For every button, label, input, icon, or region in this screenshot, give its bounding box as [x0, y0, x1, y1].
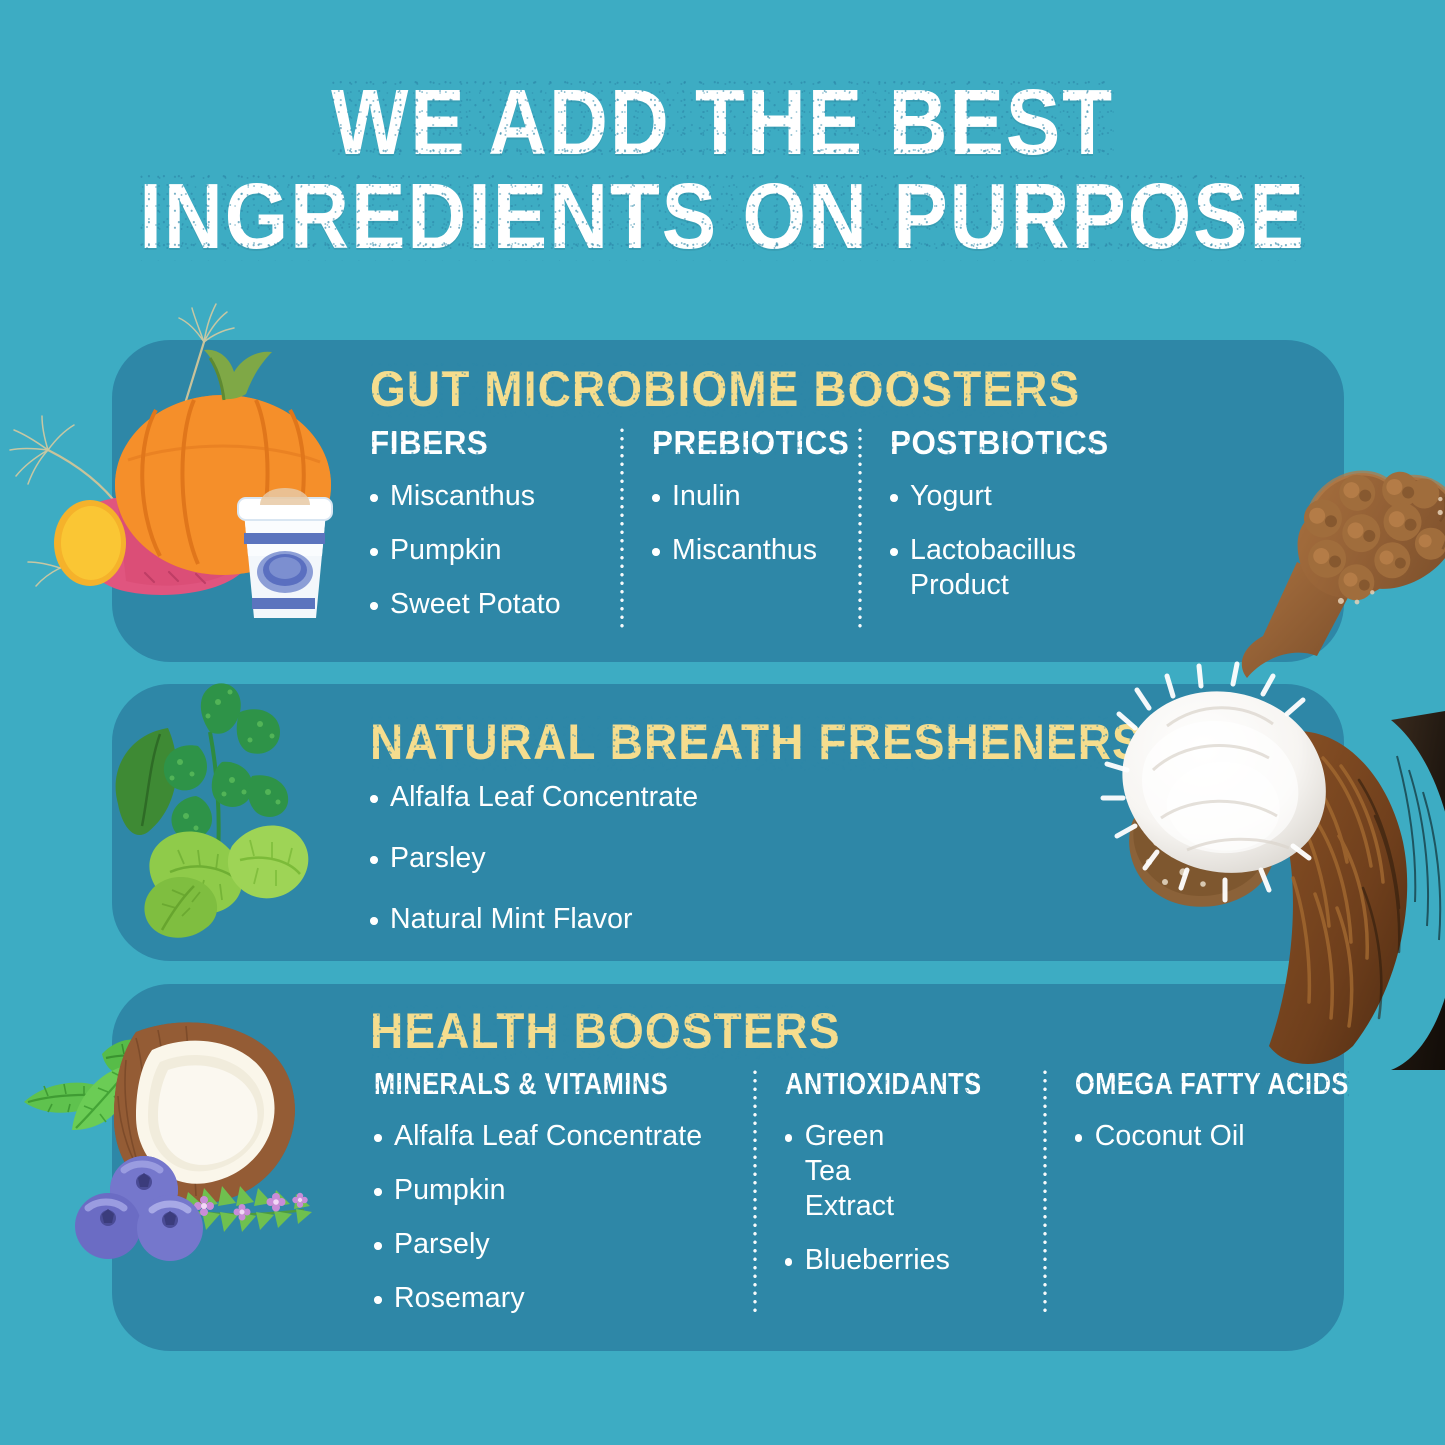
- list-item: Lactobacillus Product: [890, 533, 1105, 603]
- column-minerals-vitamins: MINERALS & VITAMINS Alfalfa Leaf Concent…: [374, 1068, 753, 1335]
- list-minerals-vitamins: Alfalfa Leaf Concentrate Pumpkin Parsely…: [374, 1119, 733, 1316]
- list-item: Alfalfa Leaf Concentrate: [370, 780, 698, 815]
- list-item: Green Tea Extract: [785, 1119, 915, 1224]
- title-line-1: WE ADD THE BEST: [331, 78, 1114, 166]
- list-breath-fresheners: Alfalfa Leaf Concentrate Parsley Natural…: [370, 780, 698, 963]
- ingredients-infographic: WE ADD THE BEST INGREDIENTS ON PURPOSE G…: [0, 0, 1445, 1445]
- column-divider: [620, 426, 624, 632]
- list-item: Blueberries: [785, 1243, 1023, 1278]
- panel-health-boosters: HEALTH BOOSTERS MINERALS & VITAMINS Alfa…: [112, 984, 1344, 1351]
- list-prebiotics: Inulin Miscanthus: [652, 479, 838, 568]
- list-item: Parsely: [374, 1227, 733, 1262]
- column-omega-fatty-acids: OMEGA FATTY ACIDS Coconut Oil: [1043, 1068, 1343, 1173]
- column-fibers: FIBERS Miscanthus Pumpkin Sweet Potato: [370, 426, 620, 641]
- list-item: Miscanthus: [652, 533, 838, 568]
- list-item: Rosemary: [374, 1281, 733, 1316]
- column-antioxidants: ANTIOXIDANTS Green Tea Extract Blueberri…: [753, 1068, 1043, 1297]
- list-item: Inulin: [652, 479, 838, 514]
- list-item: Yogurt: [890, 479, 1128, 514]
- list-fibers: Miscanthus Pumpkin Sweet Potato: [370, 479, 600, 622]
- panel-natural-breath-fresheners: NATURAL BREATH FRESHENERS Alfalfa Leaf C…: [112, 684, 1344, 961]
- column-divider: [753, 1068, 757, 1314]
- column-postbiotics: POSTBIOTICS Yogurt Lactobacillus Product: [858, 426, 1148, 622]
- list-item: Coconut Oil: [1075, 1119, 1323, 1154]
- subhead-postbiotics: POSTBIOTICS: [890, 426, 1109, 459]
- list-item: Natural Mint Flavor: [370, 902, 698, 937]
- list-item: Alfalfa Leaf Concentrate: [374, 1119, 733, 1154]
- list-item: Pumpkin: [374, 1173, 733, 1208]
- list-antioxidants: Green Tea Extract Blueberries: [785, 1119, 1023, 1278]
- subhead-omega-fatty-acids: OMEGA FATTY ACIDS: [1075, 1068, 1349, 1099]
- list-item: Pumpkin: [370, 533, 600, 568]
- column-divider: [1043, 1068, 1047, 1314]
- subhead-prebiotics: PREBIOTICS: [652, 426, 849, 459]
- title-line-2: INGREDIENTS ON PURPOSE: [139, 172, 1305, 260]
- panel-3-heading: HEALTH BOOSTERS: [370, 1002, 841, 1060]
- panel-1-columns: FIBERS Miscanthus Pumpkin Sweet Potato P…: [370, 426, 1325, 641]
- panel-1-heading: GUT MICROBIOME BOOSTERS: [370, 360, 1080, 418]
- list-item: Miscanthus: [370, 479, 600, 514]
- subhead-antioxidants: ANTIOXIDANTS: [785, 1068, 982, 1099]
- column-divider: [858, 426, 862, 632]
- panel-3-columns: MINERALS & VITAMINS Alfalfa Leaf Concent…: [374, 1068, 1324, 1335]
- page-title: WE ADD THE BEST INGREDIENTS ON PURPOSE: [0, 78, 1445, 261]
- subhead-fibers: FIBERS: [370, 426, 488, 459]
- column-prebiotics: PREBIOTICS Inulin Miscanthus: [620, 426, 858, 587]
- panel-2-heading: NATURAL BREATH FRESHENERS: [370, 713, 1144, 771]
- list-postbiotics: Yogurt Lactobacillus Product: [890, 479, 1128, 603]
- list-omega-fatty-acids: Coconut Oil: [1075, 1119, 1323, 1154]
- panel-gut-microbiome-boosters: GUT MICROBIOME BOOSTERS FIBERS Miscanthu…: [112, 340, 1344, 662]
- list-item: Parsley: [370, 841, 698, 876]
- subhead-minerals-vitamins: MINERALS & VITAMINS: [374, 1068, 668, 1099]
- list-item: Sweet Potato: [370, 587, 600, 622]
